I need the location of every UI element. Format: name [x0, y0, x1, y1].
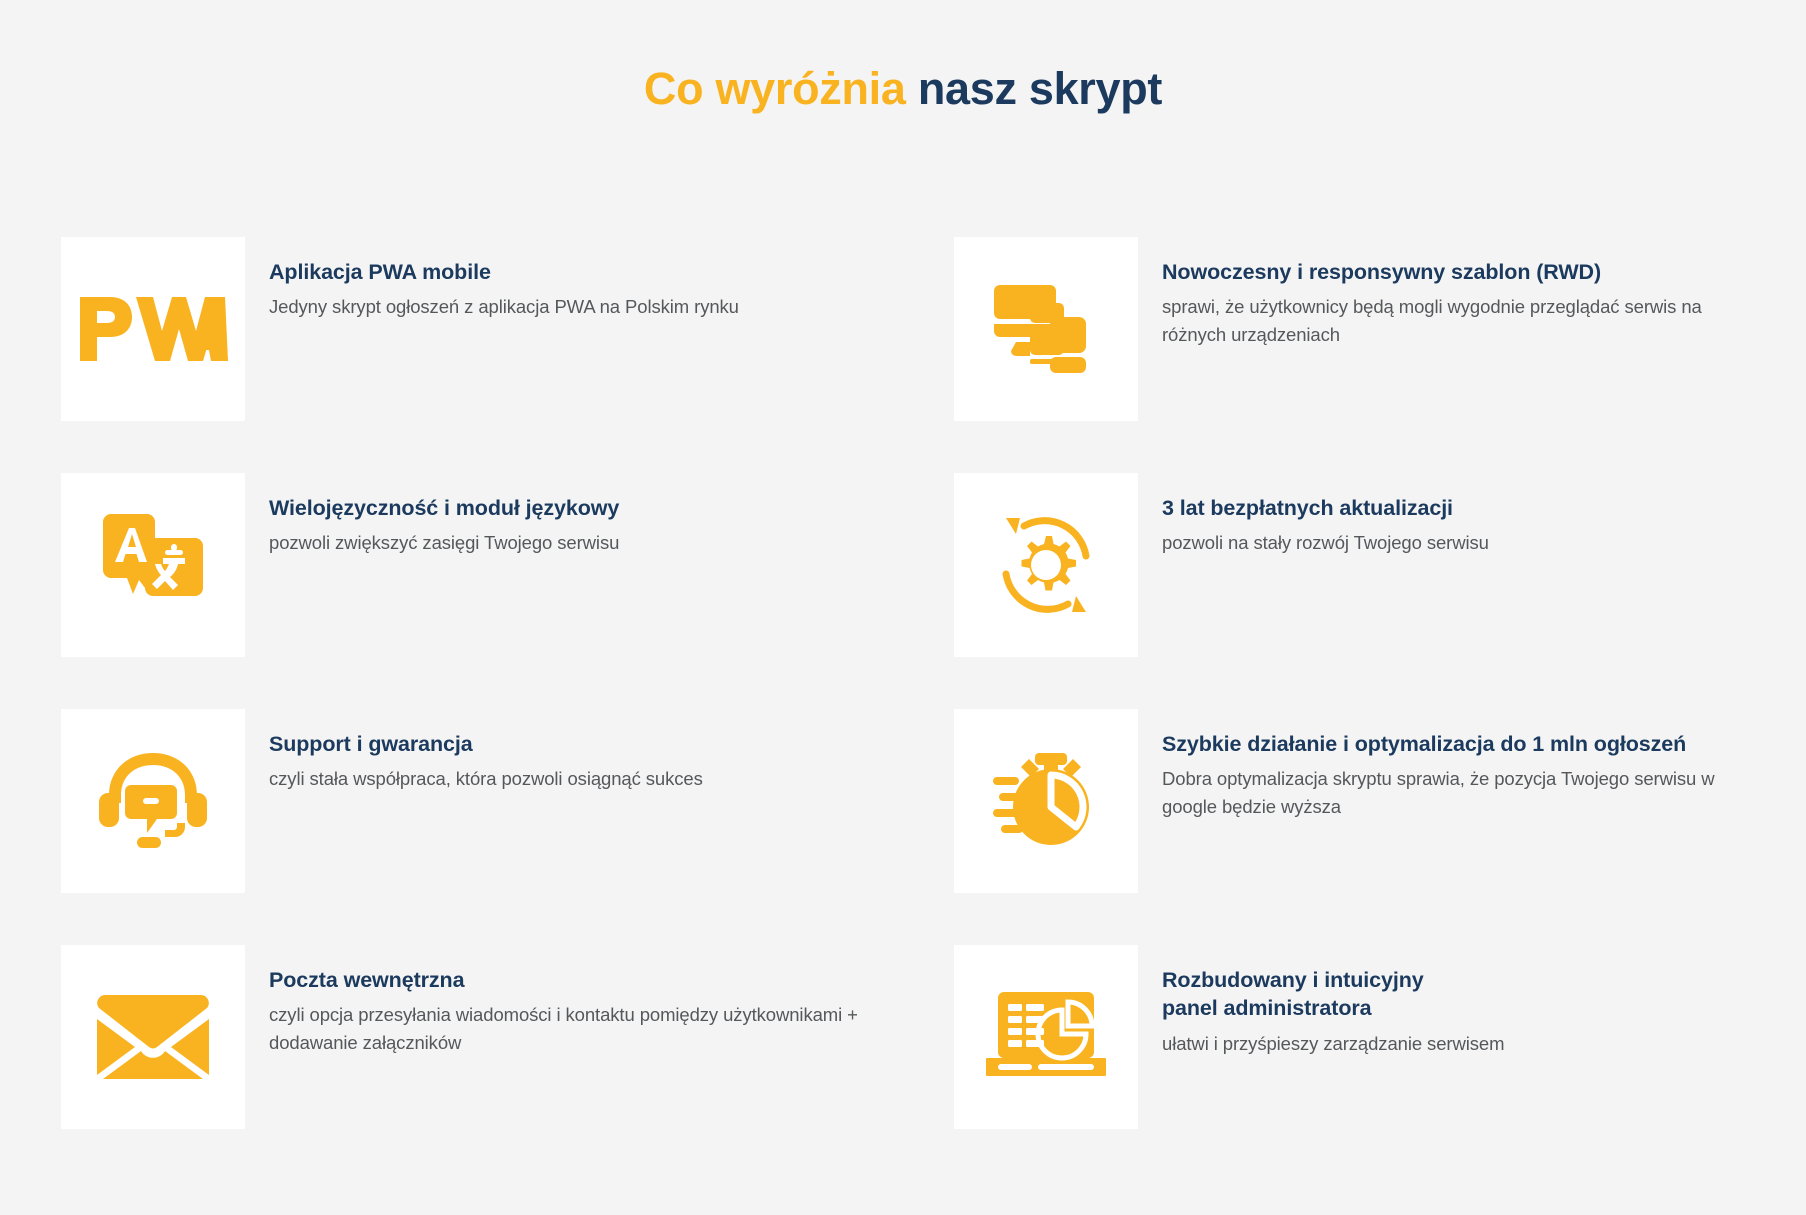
stopwatch-speed-icon: [954, 709, 1138, 893]
feature-title: Support i gwarancja: [269, 730, 703, 758]
pwa-logo-icon: [61, 237, 245, 421]
feature-title: Aplikacja PWA mobile: [269, 258, 739, 286]
feature-card-updates: 3 lat bezpłatnych aktualizacji pozwoli n…: [954, 473, 1761, 709]
feature-title: Wielojęzyczność i moduł językowy: [269, 494, 619, 522]
feature-text-block: Aplikacja PWA mobile Jedyny skrypt ogłos…: [245, 237, 739, 321]
page-title: Co wyróżnia nasz skrypt: [0, 0, 1806, 115]
feature-text-block: Nowoczesny i responsywny szablon (RWD) s…: [1138, 237, 1761, 348]
envelope-mail-icon: [61, 945, 245, 1129]
feature-title: Nowoczesny i responsywny szablon (RWD): [1162, 258, 1761, 286]
feature-text-block: 3 lat bezpłatnych aktualizacji pozwoli n…: [1138, 473, 1489, 557]
feature-text-block: Support i gwarancja czyli stała współpra…: [245, 709, 703, 793]
headset-support-icon: [61, 709, 245, 893]
feature-title: Poczta wewnętrzna: [269, 966, 874, 994]
translate-language-icon: [61, 473, 245, 657]
feature-description: pozwoli na stały rozwój Twojego serwisu: [1162, 529, 1489, 556]
feature-description: sprawi, że użytkownicy będą mogli wygodn…: [1162, 293, 1761, 347]
feature-card-rwd: Nowoczesny i responsywny szablon (RWD) s…: [954, 237, 1761, 473]
laptop-dashboard-icon: [954, 945, 1138, 1129]
feature-text-block: Poczta wewnętrzna czyli opcja przesyłani…: [245, 945, 874, 1056]
feature-card-admin-panel: Rozbudowany i intuicyjny panel administr…: [954, 945, 1761, 1181]
feature-title: 3 lat bezpłatnych aktualizacji: [1162, 494, 1489, 522]
feature-text-block: Szybkie działanie i optymalizacja do 1 m…: [1138, 709, 1761, 820]
feature-description: ułatwi i przyśpieszy zarządzanie serwise…: [1162, 1030, 1504, 1057]
page-title-accent: Co wyróżnia: [644, 63, 906, 114]
feature-card-internal-mail: Poczta wewnętrzna czyli opcja przesyłani…: [61, 945, 954, 1181]
feature-card-support: Support i gwarancja czyli stała współpra…: [61, 709, 954, 945]
gear-refresh-icon: [954, 473, 1138, 657]
feature-card-performance: Szybkie działanie i optymalizacja do 1 m…: [954, 709, 1761, 945]
feature-text-block: Rozbudowany i intuicyjny panel administr…: [1138, 945, 1504, 1057]
feature-text-block: Wielojęzyczność i moduł językowy pozwoli…: [245, 473, 619, 557]
page-title-text: Co wyróżnia nasz skrypt: [0, 63, 1806, 115]
features-grid: Aplikacja PWA mobile Jedyny skrypt ogłos…: [61, 237, 1761, 1181]
feature-card-pwa: Aplikacja PWA mobile Jedyny skrypt ogłos…: [61, 237, 954, 473]
feature-description: Jedyny skrypt ogłoszeń z aplikacja PWA n…: [269, 293, 739, 320]
feature-description: czyli stała współpraca, która pozwoli os…: [269, 765, 703, 792]
feature-card-multilanguage: Wielojęzyczność i moduł językowy pozwoli…: [61, 473, 954, 709]
feature-title: Rozbudowany i intuicyjny panel administr…: [1162, 966, 1504, 1023]
page-title-dark: nasz skrypt: [918, 63, 1162, 114]
responsive-devices-icon: [954, 237, 1138, 421]
feature-title: Szybkie działanie i optymalizacja do 1 m…: [1162, 730, 1761, 758]
features-page: Co wyróżnia nasz skrypt Apli: [0, 0, 1806, 1215]
feature-description: czyli opcja przesyłania wiadomości i kon…: [269, 1001, 874, 1055]
feature-description: Dobra optymalizacja skryptu sprawia, że …: [1162, 765, 1761, 819]
feature-description: pozwoli zwiększyć zasięgi Twojego serwis…: [269, 529, 619, 556]
